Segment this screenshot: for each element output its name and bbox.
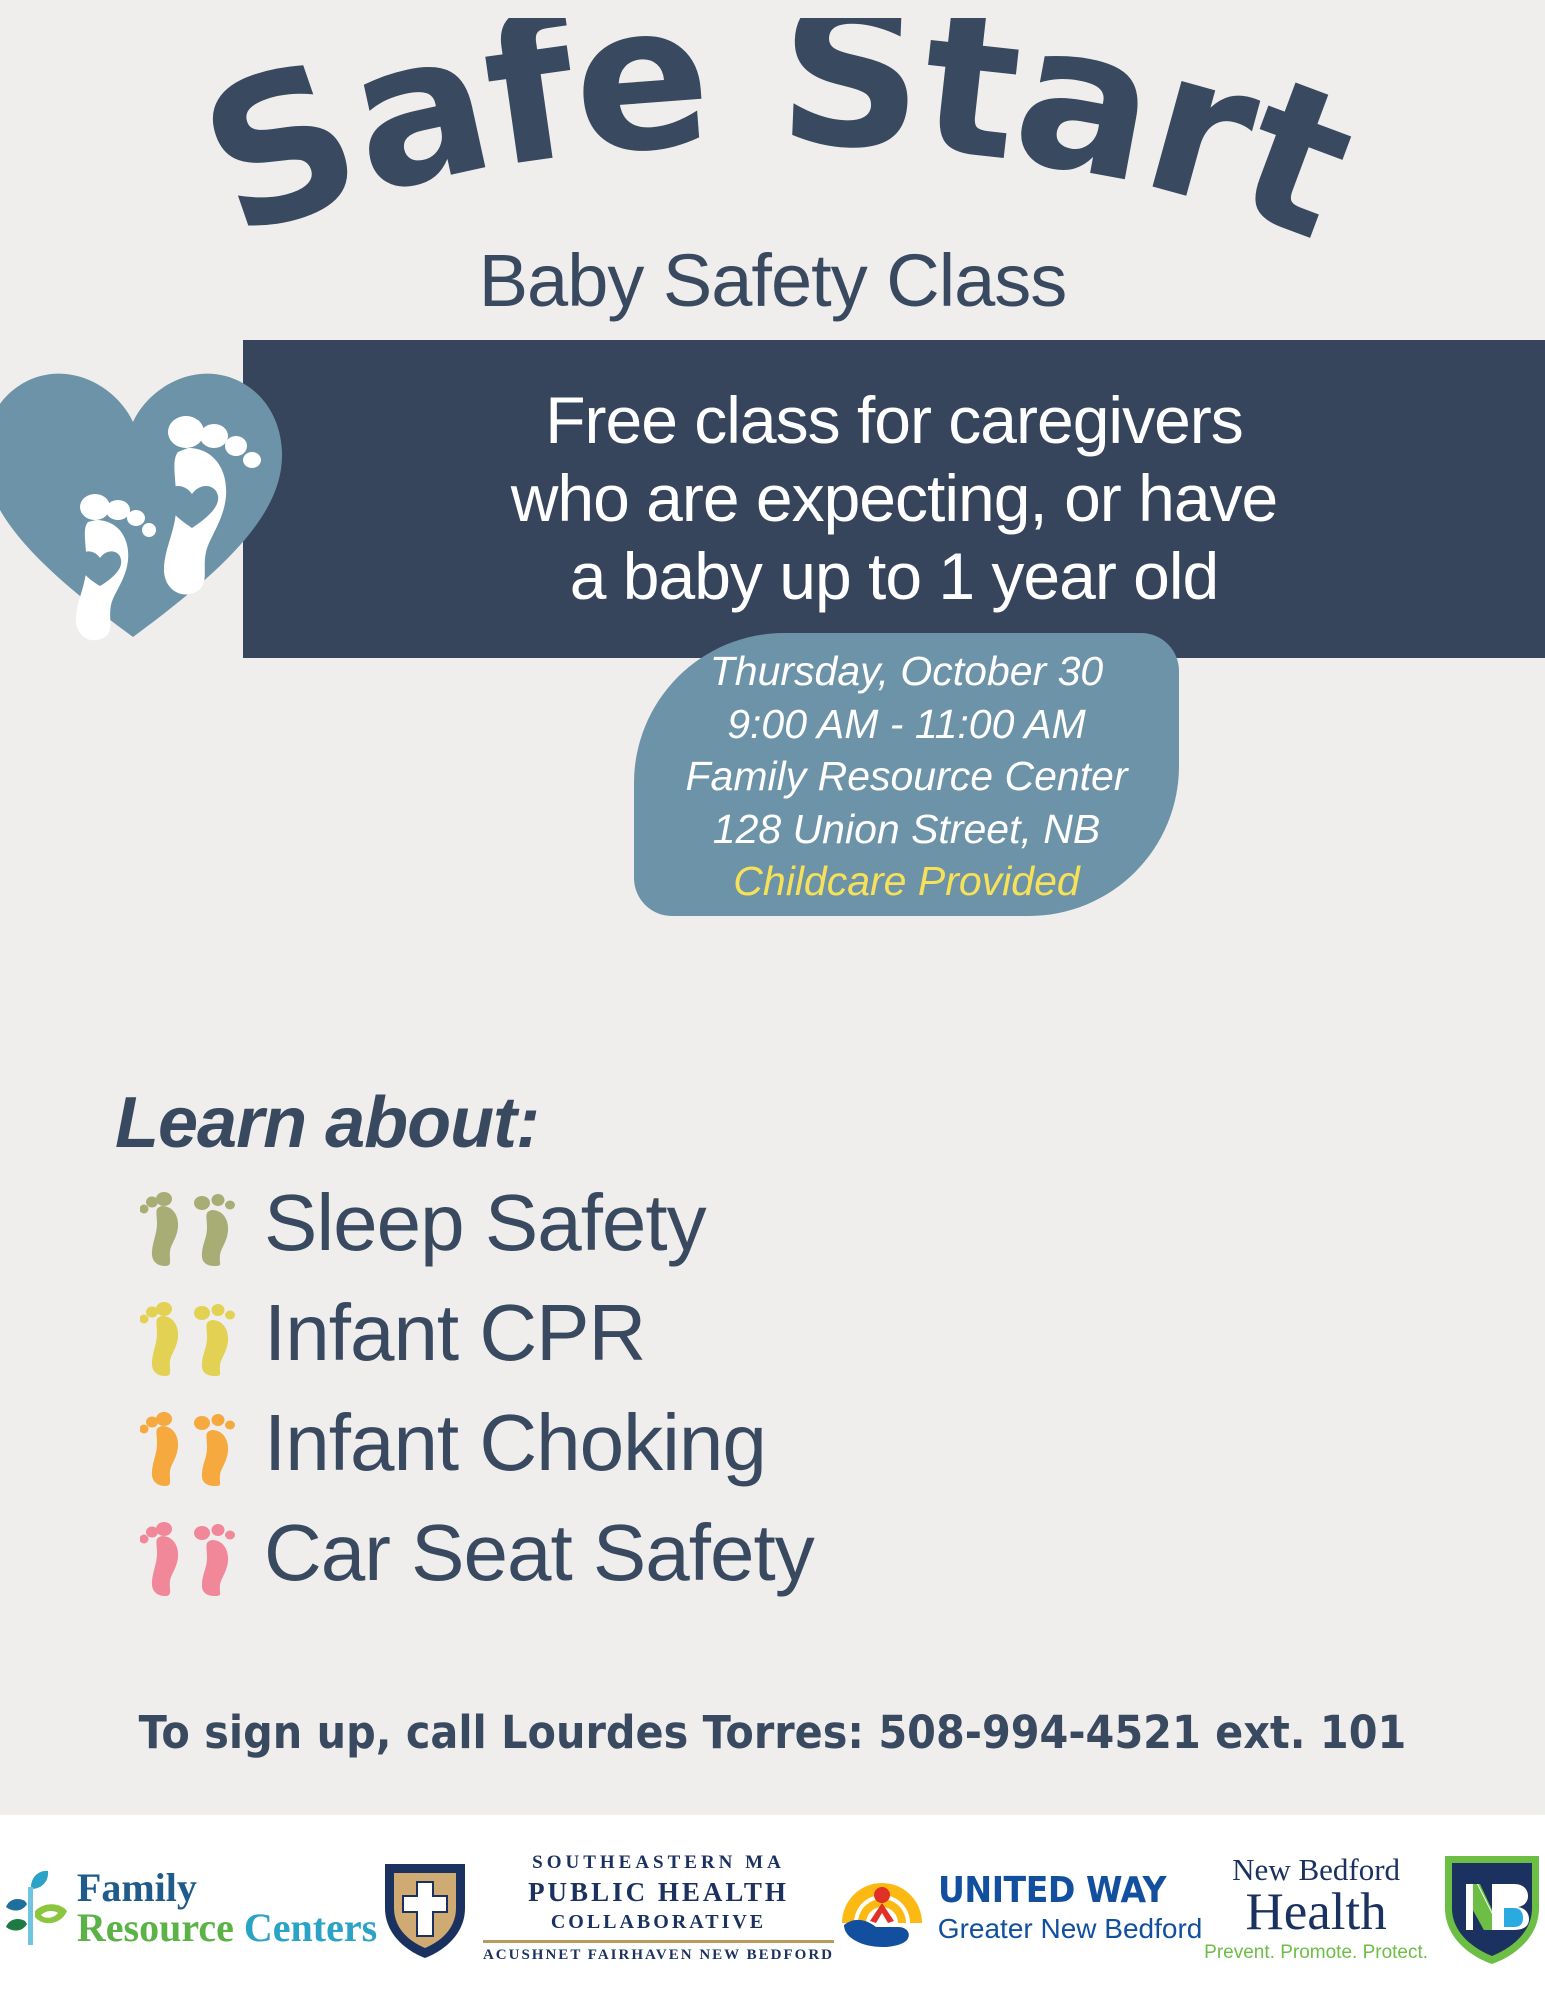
baby-feet-icon: [140, 1180, 236, 1266]
nb-shield-icon: [1440, 1850, 1544, 1966]
logo-united-way: UNITED WAY Greater New Bedford: [836, 1865, 1203, 1951]
united-way-line-1: UNITED WAY: [938, 1870, 1181, 1911]
footer-logo-bar: Family Resource Centers SOUTHEASTERN MA …: [0, 1815, 1545, 2000]
frc-wordmark: Family Resource Centers: [77, 1868, 377, 1946]
list-item: Sleep Safety: [140, 1168, 1290, 1278]
frc-line-2: Resource Centers: [77, 1908, 377, 1947]
page-title: Safe Start: [176, 18, 1379, 268]
topic-label: Infant CPR: [264, 1293, 645, 1373]
united-way-line-2: Greater New Bedford: [938, 1913, 1203, 1945]
baby-feet-icon: [140, 1290, 236, 1376]
logo-southeastern-ma-public-health-collaborative: SOUTHEASTERN MA PUBLIC HEALTH COLLABORAT…: [379, 1852, 834, 1964]
event-address: 128 Union Street, NB: [713, 803, 1100, 855]
topic-label: Infant Choking: [264, 1403, 766, 1483]
baby-feet-icon: [140, 1400, 236, 1486]
topic-label: Car Seat Safety: [264, 1513, 814, 1593]
baby-feet-icon: [140, 1510, 236, 1596]
page-subtitle: Baby Safety Class: [0, 238, 1545, 323]
united-way-rainbow-hand-icon: [836, 1865, 928, 1951]
smphc-line-3: COLLABORATIVE: [483, 1911, 834, 1934]
smphc-line-2: PUBLIC HEALTH: [483, 1877, 834, 1908]
family-resource-centers-icon: [1, 1867, 71, 1949]
signup-call-to-action: To sign up, call Lourdes Torres: 508-994…: [62, 1706, 1483, 1759]
event-details-bubble: Thursday, October 30 9:00 AM - 11:00 AM …: [634, 633, 1179, 916]
childcare-note: Childcare Provided: [733, 855, 1079, 907]
event-venue: Family Resource Center: [685, 750, 1127, 802]
learn-about-heading: Learn about:: [115, 1082, 539, 1164]
shield-cross-icon: [379, 1856, 471, 1960]
intro-banner-text: Free class for caregivers who are expect…: [485, 382, 1303, 616]
heart-with-baby-feet-icon: [0, 352, 288, 642]
logo-family-resource-centers: Family Resource Centers: [1, 1867, 377, 1949]
intro-banner: Free class for caregivers who are expect…: [243, 340, 1545, 658]
topic-label: Sleep Safety: [264, 1183, 706, 1263]
frc-centers-text: Centers: [234, 1905, 377, 1950]
event-time: 9:00 AM - 11:00 AM: [727, 698, 1086, 750]
smphc-divider: [483, 1940, 834, 1943]
united-way-wordmark: UNITED WAY Greater New Bedford: [938, 1870, 1203, 1945]
title-arc-container: Safe Start: [0, 18, 1545, 268]
topics-list: Sleep Safety Infant CPR: [140, 1168, 1290, 1608]
title-arc-svg: Safe Start: [0, 18, 1545, 268]
poster: Safe Start Baby Safety Class Free class …: [0, 0, 1545, 2000]
nbh-wordmark: New Bedford Health Prevent. Promote. Pro…: [1204, 1852, 1428, 1964]
smphc-wordmark: SOUTHEASTERN MA PUBLIC HEALTH COLLABORAT…: [483, 1852, 834, 1964]
logo-new-bedford-health: New Bedford Health Prevent. Promote. Pro…: [1204, 1850, 1544, 1966]
smphc-line-1: SOUTHEASTERN MA: [483, 1852, 834, 1874]
frc-line-1: Family: [77, 1868, 377, 1907]
nbh-tagline: Prevent. Promote. Protect.: [1204, 1942, 1428, 1964]
smphc-towns: ACUSHNET FAIRHAVEN NEW BEDFORD: [483, 1947, 834, 1964]
frc-resource-text: Resource: [77, 1905, 234, 1950]
heart-icon-svg: [0, 352, 288, 642]
list-item: Infant Choking: [140, 1388, 1290, 1498]
list-item: Infant CPR: [140, 1278, 1290, 1388]
event-date: Thursday, October 30: [710, 645, 1103, 697]
list-item: Car Seat Safety: [140, 1498, 1290, 1608]
nbh-line-2: Health: [1204, 1886, 1428, 1939]
